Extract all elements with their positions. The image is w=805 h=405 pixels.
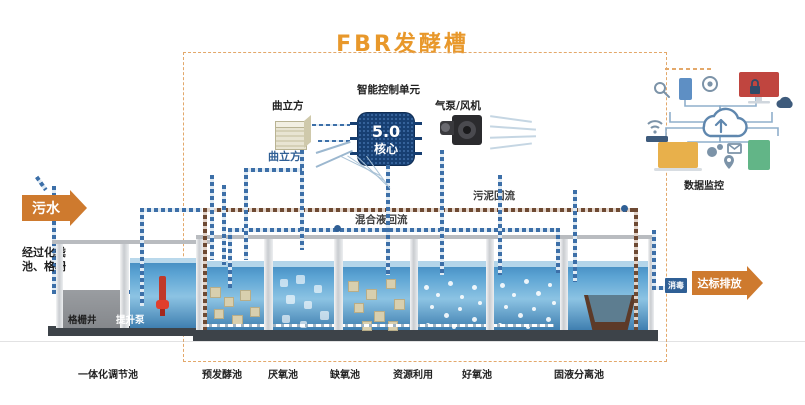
inlet-drop-pipe xyxy=(35,176,47,191)
pipe-node xyxy=(334,225,341,232)
aeration-bubble xyxy=(444,313,449,318)
smartphone-icon xyxy=(679,78,692,100)
laptop-icon xyxy=(658,142,698,168)
aeration-bubble xyxy=(512,293,516,297)
dosing-line xyxy=(244,168,248,260)
effluent-riser xyxy=(652,230,656,288)
media-floc xyxy=(286,295,295,304)
media-floc xyxy=(320,311,329,320)
mixed-liquor-downcomer xyxy=(228,228,232,288)
disinfection-badge: 消毒 xyxy=(665,278,687,293)
stage-label-anaerobic: 厌氧池 xyxy=(268,366,298,381)
tank-wall xyxy=(196,239,203,330)
aeration-bubble xyxy=(460,295,464,299)
lock-icon xyxy=(750,86,760,94)
mixed-liquor-pipe-top xyxy=(228,228,558,232)
data-monitoring-label: 数据监控 xyxy=(684,177,724,192)
fbr-process-diagram: FBR发酵槽 污水 经过化粪 池、格栅 xyxy=(0,0,805,405)
sensor-drop-line xyxy=(222,185,226,265)
mixed-liquor-return-label: 混合液回流 xyxy=(352,212,411,227)
data-monitoring-cluster xyxy=(640,60,800,175)
aeration-bubble xyxy=(472,285,477,290)
aeration-bubble xyxy=(532,307,536,311)
mixed-liquor-riser xyxy=(556,228,560,273)
media-floc xyxy=(280,279,288,287)
control-unit-label: 智能控制单元 xyxy=(357,82,420,97)
cube-media-label: 曲立方 xyxy=(272,98,304,113)
chip-pin xyxy=(350,137,358,140)
sludge-return-riser xyxy=(634,208,638,330)
chip-pin xyxy=(350,122,358,125)
cube-to-chip-link xyxy=(312,124,350,126)
chip-pin xyxy=(414,152,422,155)
aeration-bubble xyxy=(524,279,529,284)
media-floc xyxy=(282,315,290,323)
media-cube xyxy=(394,299,405,310)
stage-label-anoxic: 缺氧池 xyxy=(330,366,360,381)
aeration-bubble xyxy=(536,291,541,296)
aeration-bubble xyxy=(552,301,556,305)
media-cube xyxy=(214,309,224,319)
media-cube xyxy=(224,297,234,307)
chip-core-label: 核心 xyxy=(358,143,414,155)
gear-icon xyxy=(707,144,723,157)
chip-pin xyxy=(350,152,358,155)
blower-icon xyxy=(440,113,484,147)
foundation-slab-main xyxy=(193,330,658,341)
aeration-bubble xyxy=(500,283,505,288)
clarifier-sludge xyxy=(588,295,632,322)
aeration-drop-line xyxy=(498,175,502,275)
aeration-diffuser-line xyxy=(204,324,554,327)
lift-pump-label: 提升泵 xyxy=(116,312,145,326)
lift-transfer-pipe xyxy=(140,208,202,212)
aeration-bubble xyxy=(546,317,551,322)
influent-arrow-label: 污水 xyxy=(32,198,60,218)
media-cube xyxy=(240,290,251,301)
lift-discharge-pipe xyxy=(140,208,144,306)
tank-wall xyxy=(410,239,418,330)
dosing-line xyxy=(300,150,304,250)
media-floc xyxy=(296,275,305,284)
aeration-bubble xyxy=(472,317,477,322)
aeration-bubble xyxy=(478,301,482,305)
media-cube xyxy=(366,289,377,300)
ground-line xyxy=(0,341,805,342)
wifi-icon xyxy=(648,121,662,124)
media-cube xyxy=(374,311,385,322)
aeration-bubble xyxy=(504,305,508,309)
effluent-arrow: 达标排放 xyxy=(692,266,763,300)
tank-wall xyxy=(56,244,63,328)
monitoring-graphic xyxy=(640,60,800,175)
chip-pin xyxy=(414,122,422,125)
pipe-node xyxy=(621,205,628,212)
stage-label-separation: 固液分离池 xyxy=(554,366,604,381)
aeration-bubble xyxy=(458,307,462,311)
sludge-return-downcomer xyxy=(203,208,207,330)
media-cube xyxy=(386,279,396,289)
aeration-bubble xyxy=(430,305,434,309)
aeration-drop-line xyxy=(573,190,577,282)
cube-media-icon xyxy=(275,115,311,149)
stage-label-resource: 资源利用 xyxy=(393,366,433,381)
aeration-drop-line xyxy=(386,165,390,275)
sensor-drop-line xyxy=(210,175,214,260)
cloud-small-icon xyxy=(776,97,792,108)
tablet-icon xyxy=(748,140,770,170)
media-cube xyxy=(348,281,359,292)
aeration-bubble xyxy=(518,313,523,318)
stage-label-regulation: 一体化调节池 xyxy=(78,366,138,381)
influent-arrow: 污水 xyxy=(22,190,87,226)
stage-label-pre-ferment: 预发酵池 xyxy=(202,366,242,381)
effluent-arrow-label: 达标排放 xyxy=(698,275,742,291)
media-floc xyxy=(314,285,322,293)
tank-wall xyxy=(560,239,568,330)
tank-wall xyxy=(264,239,273,330)
lift-pump xyxy=(156,276,169,316)
blower-label: 气泵/风机 xyxy=(435,98,481,113)
tank-wall xyxy=(486,239,494,330)
tank-wall xyxy=(334,239,343,330)
media-cube xyxy=(354,303,364,313)
aeration-bubble xyxy=(424,285,429,290)
server-icon xyxy=(646,136,668,142)
aeration-bubble xyxy=(448,281,453,286)
chip-pin xyxy=(414,137,422,140)
cube-media-label-inline: 曲立方 xyxy=(268,148,301,164)
cloud-icon xyxy=(704,109,747,136)
media-cube xyxy=(210,287,221,298)
aeration-drop-line xyxy=(440,150,444,275)
aeration-bubble xyxy=(548,283,552,287)
sludge-return-label: 污泥回流 xyxy=(470,188,518,203)
monitoring-link xyxy=(665,68,711,70)
grit-chamber-label: 格栅井 xyxy=(68,312,97,326)
media-floc xyxy=(304,301,312,309)
aeration-bubble xyxy=(436,293,440,297)
dosing-header xyxy=(244,168,302,172)
chip-version: 5.0 xyxy=(358,124,414,140)
fbr-tank-bank xyxy=(196,235,654,330)
stage-label-aerobic: 好氧池 xyxy=(462,366,492,381)
media-cube xyxy=(250,307,260,317)
